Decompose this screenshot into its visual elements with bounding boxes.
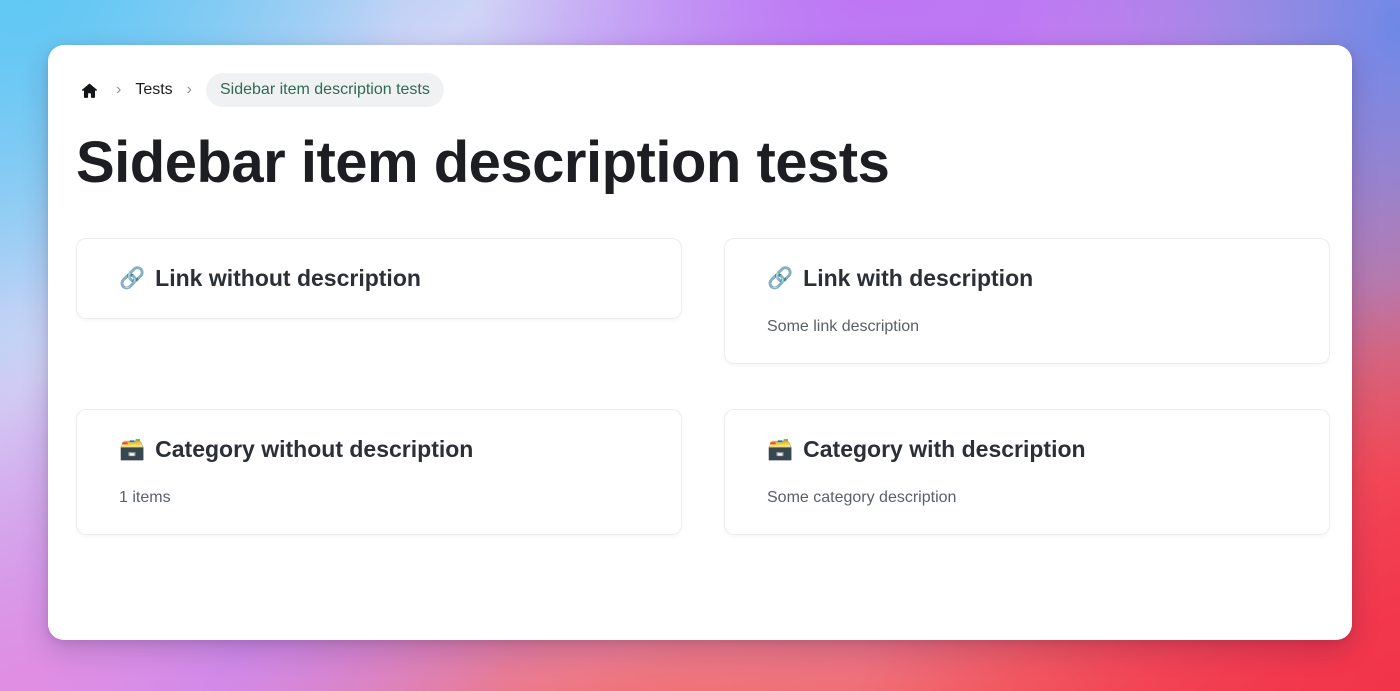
- card-title-text: Category without description: [155, 434, 473, 465]
- link-icon: 🔗: [119, 268, 145, 289]
- card-file-box-icon: 🗃️: [119, 439, 145, 460]
- card-description: Some category description: [767, 486, 1287, 510]
- breadcrumb: › Tests › Sidebar item description tests: [76, 73, 1324, 107]
- card-title-text: Link with description: [803, 263, 1033, 294]
- card-link-with-description[interactable]: 🔗 Link with description Some link descri…: [724, 238, 1330, 364]
- breadcrumb-item-tests[interactable]: Tests: [135, 82, 172, 98]
- card-item-count: 1 items: [119, 486, 639, 510]
- card-grid: 🔗 Link without description 🔗 Link with d…: [76, 238, 1324, 535]
- card-title-text: Link without description: [155, 263, 421, 294]
- home-icon: [80, 81, 99, 100]
- card-category-with-description[interactable]: 🗃️ Category with description Some catego…: [724, 409, 1330, 535]
- card-description: Some link description: [767, 315, 1287, 339]
- card-title: 🗃️ Category with description: [767, 434, 1287, 465]
- page-backdrop: › Tests › Sidebar item description tests…: [0, 0, 1400, 691]
- card-file-box-icon: 🗃️: [767, 439, 793, 460]
- breadcrumb-item-current: Sidebar item description tests: [206, 73, 444, 107]
- card-title-text: Category with description: [803, 434, 1085, 465]
- card-link-without-description[interactable]: 🔗 Link without description: [76, 238, 682, 319]
- breadcrumb-home-link[interactable]: [76, 77, 102, 103]
- breadcrumb-separator-2: ›: [173, 82, 206, 98]
- card-title: 🔗 Link with description: [767, 263, 1287, 294]
- breadcrumb-separator-1: ›: [102, 82, 135, 98]
- link-icon: 🔗: [767, 268, 793, 289]
- page-title: Sidebar item description tests: [76, 133, 1324, 194]
- card-category-without-description[interactable]: 🗃️ Category without description 1 items: [76, 409, 682, 535]
- card-title: 🔗 Link without description: [119, 263, 639, 294]
- card-title: 🗃️ Category without description: [119, 434, 639, 465]
- content-panel: › Tests › Sidebar item description tests…: [48, 45, 1352, 640]
